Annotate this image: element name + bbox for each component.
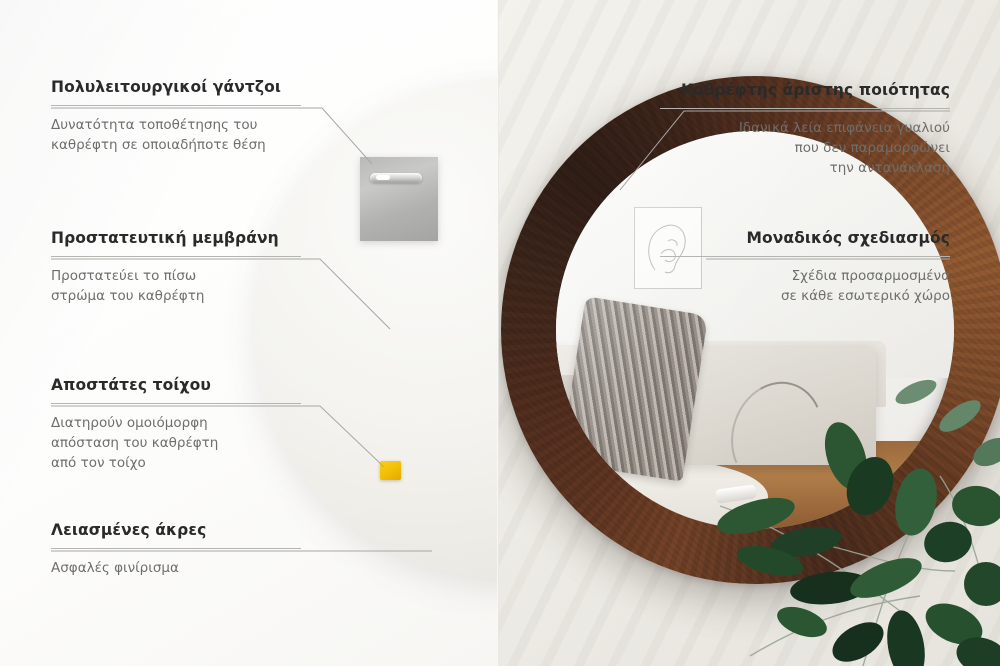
callout-membrane-body: Προστατεύει το πίσω στρώμα του καθρέφτη	[51, 266, 301, 306]
callout-unique-design: Μοναδικός σχεδιασμός Σχέδια προσαρμοσμέν…	[660, 229, 950, 306]
callout-unique-design-rule	[660, 256, 950, 257]
callout-edges-title: Λειασμένες άκρες	[51, 521, 301, 539]
callout-hooks: Πολυλειτουργικοί γάντζοι Δυνατότητα τοπο…	[51, 78, 301, 155]
callout-edges: Λειασμένες άκρες Ασφαλές φινίρισμα	[51, 521, 301, 578]
callout-edges-body: Ασφαλές φινίρισμα	[51, 558, 301, 578]
callout-spacers: Αποστάτες τοίχου Διατηρούν ομοιόμορφη απ…	[51, 376, 301, 473]
callout-hooks-title: Πολυλειτουργικοί γάντζοι	[51, 78, 301, 96]
callout-membrane: Προστατευτική μεμβράνη Προστατεύει το πί…	[51, 229, 301, 306]
foliage-decoration	[710, 356, 1000, 666]
callout-membrane-title: Προστατευτική μεμβράνη	[51, 229, 301, 247]
callout-quality-mirror: Καθρέφτης άριστης ποιότητας Ιδανικά λεία…	[660, 81, 950, 178]
callout-quality-mirror-title: Καθρέφτης άριστης ποιότητας	[660, 81, 950, 99]
wall-spacer	[380, 461, 401, 480]
callout-unique-design-title: Μοναδικός σχεδιασμός	[660, 229, 950, 247]
callout-membrane-rule	[51, 256, 301, 257]
reflected-knit-throw	[560, 296, 709, 481]
callout-spacers-body: Διατηρούν ομοιόμορφη απόσταση του καθρέφ…	[51, 413, 301, 473]
hook-mounting-plate	[360, 157, 438, 241]
callout-spacers-title: Αποστάτες τοίχου	[51, 376, 301, 394]
callout-spacers-rule	[51, 403, 301, 404]
callout-quality-mirror-rule	[660, 108, 950, 109]
callout-hooks-body: Δυνατότητα τοποθέτησης του καθρέφτη σε ο…	[51, 115, 301, 155]
callout-quality-mirror-body: Ιδανικά λεία επιφάνεια γυαλιού που δεν π…	[660, 118, 950, 178]
callout-hooks-rule	[51, 105, 301, 106]
hook-slot-icon	[370, 173, 422, 183]
panel-seam	[497, 0, 499, 666]
callout-edges-rule	[51, 548, 301, 549]
callout-unique-design-body: Σχέδια προσαρμοσμένα σε κάθε εσωτερικό χ…	[660, 266, 950, 306]
infographic-canvas: Πολυλειτουργικοί γάντζοι Δυνατότητα τοπο…	[0, 0, 1000, 666]
leaves-icon	[710, 356, 1000, 666]
